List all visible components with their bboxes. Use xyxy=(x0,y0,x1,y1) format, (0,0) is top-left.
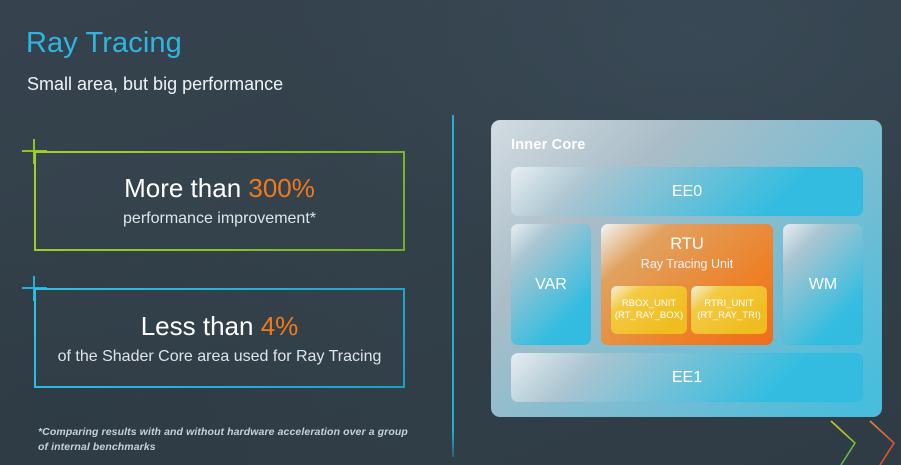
block-rbox-unit-opcode: (RT_RAY_BOX) xyxy=(615,310,683,322)
stat-headline: Less than 4% xyxy=(36,311,403,342)
block-rtri-unit: RTRI_UNIT (RT_RAY_TRI) xyxy=(691,286,767,334)
block-ee1-label: EE1 xyxy=(672,369,702,387)
stat-caption: performance improvement* xyxy=(36,210,403,228)
chevron-decoration xyxy=(825,417,897,465)
block-rbox-unit-name: RBOX_UNIT xyxy=(622,298,676,310)
block-rbox-unit: RBOX_UNIT (RT_RAY_BOX) xyxy=(611,286,687,334)
inner-core-label: Inner Core xyxy=(511,137,586,153)
block-var: VAR xyxy=(511,224,591,345)
stat-headline-prefix: More than xyxy=(124,173,248,203)
block-ee0: EE0 xyxy=(511,167,863,216)
page-title: Ray Tracing xyxy=(26,27,182,60)
block-rtu-subtitle: Ray Tracing Unit xyxy=(602,257,772,271)
block-ee1: EE1 xyxy=(511,353,863,402)
block-rtu-title: RTU xyxy=(602,235,772,254)
inner-core-container: Inner Core EE0 VAR RTU Ray Tracing Unit … xyxy=(491,120,882,417)
block-var-label: VAR xyxy=(535,276,567,294)
stat-callout-area: Less than 4% of the Shader Core area use… xyxy=(34,288,405,388)
stat-headline-value: 300% xyxy=(248,173,315,203)
stat-headline: More than 300% xyxy=(36,173,403,204)
page-subtitle: Small area, but big performance xyxy=(27,74,283,95)
block-rtri-unit-opcode: (RT_RAY_TRI) xyxy=(697,310,761,322)
chevron-left-icon xyxy=(828,421,855,465)
block-wm-label: WM xyxy=(809,276,837,294)
slide-canvas: Ray Tracing Small area, but big performa… xyxy=(0,0,901,465)
stat-headline-value: 4% xyxy=(261,311,299,341)
stat-callout-performance: More than 300% performance improvement* xyxy=(34,151,405,251)
block-rtu: RTU Ray Tracing Unit RBOX_UNIT (RT_RAY_B… xyxy=(601,224,773,345)
stat-caption: of the Shader Core area used for Ray Tra… xyxy=(36,348,403,366)
block-ee0-label: EE0 xyxy=(672,183,702,201)
chevron-right-icon xyxy=(867,421,894,465)
stat-headline-prefix: Less than xyxy=(141,311,261,341)
block-wm: WM xyxy=(783,224,863,345)
vertical-divider xyxy=(452,115,454,457)
footnote-text: *Comparing results with and without hard… xyxy=(38,425,408,455)
block-rtri-unit-name: RTRI_UNIT xyxy=(704,298,753,310)
